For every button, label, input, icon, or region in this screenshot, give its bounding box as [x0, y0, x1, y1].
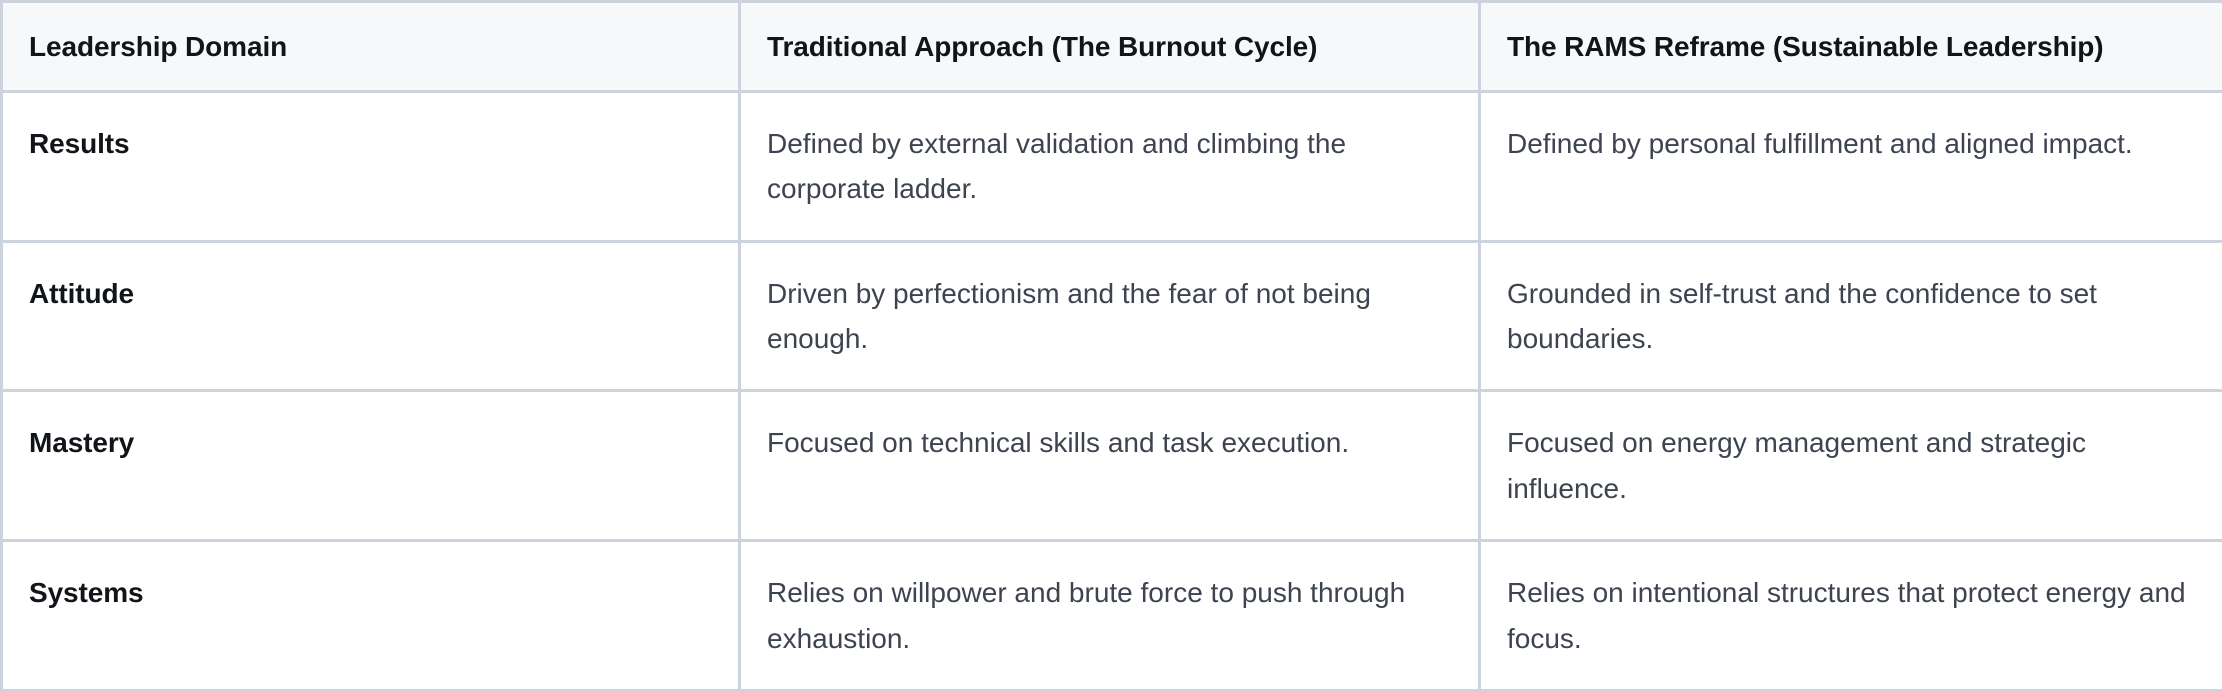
cell-domain-attitude: Attitude [2, 241, 740, 391]
column-header-leadership-domain: Leadership Domain [2, 2, 740, 92]
cell-domain-systems: Systems [2, 541, 740, 691]
leadership-comparison-table: Leadership Domain Traditional Approach (… [0, 0, 2222, 692]
table-row: Results Defined by external validation a… [2, 92, 2222, 242]
cell-rams-results: Defined by personal fulfillment and alig… [1480, 92, 2222, 242]
cell-rams-mastery: Focused on energy management and strateg… [1480, 391, 2222, 541]
table-row: Systems Relies on willpower and brute fo… [2, 541, 2222, 691]
column-header-rams-reframe: The RAMS Reframe (Sustainable Leadership… [1480, 2, 2222, 92]
table-row: Mastery Focused on technical skills and … [2, 391, 2222, 541]
cell-domain-results: Results [2, 92, 740, 242]
cell-rams-attitude: Grounded in self-trust and the confidenc… [1480, 241, 2222, 391]
cell-traditional-results: Defined by external validation and climb… [740, 92, 1480, 242]
table-header: Leadership Domain Traditional Approach (… [2, 2, 2222, 92]
table-row: Attitude Driven by perfectionism and the… [2, 241, 2222, 391]
cell-domain-mastery: Mastery [2, 391, 740, 541]
cell-traditional-mastery: Focused on technical skills and task exe… [740, 391, 1480, 541]
table-header-row: Leadership Domain Traditional Approach (… [2, 2, 2222, 92]
cell-rams-systems: Relies on intentional structures that pr… [1480, 541, 2222, 691]
column-header-traditional-approach: Traditional Approach (The Burnout Cycle) [740, 2, 1480, 92]
cell-traditional-systems: Relies on willpower and brute force to p… [740, 541, 1480, 691]
cell-traditional-attitude: Driven by perfectionism and the fear of … [740, 241, 1480, 391]
comparison-table-container: Leadership Domain Traditional Approach (… [0, 0, 2222, 618]
table-body: Results Defined by external validation a… [2, 92, 2222, 691]
